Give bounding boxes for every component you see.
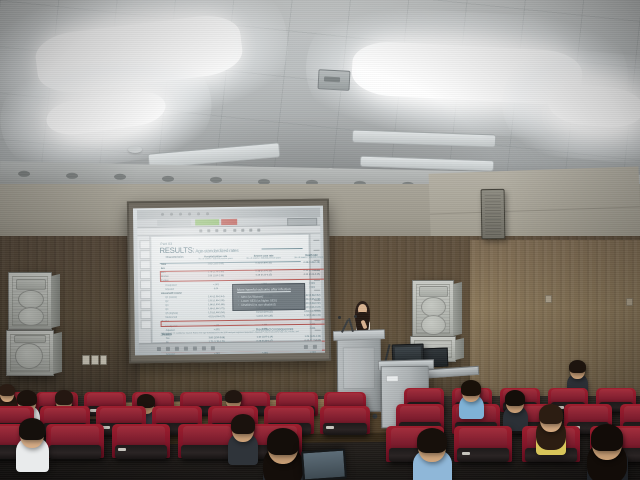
table-col-header: Death rateNo. of events / 100,000 person… — [290, 254, 325, 260]
audience-hair-top — [267, 428, 299, 455]
table-row-label: Unadjusted — [165, 284, 177, 286]
table-row-label: Q2 — [165, 301, 168, 303]
seat-number-tag — [462, 452, 470, 455]
pa-speaker-cabinet — [8, 272, 52, 330]
slide-thumbnail-pane[interactable] — [137, 236, 151, 343]
table-cell: 1.22 (1.16-1.28) — [242, 315, 286, 318]
table-cell: 4.15 (4.03-4.27) — [194, 316, 238, 319]
audience-hair-top — [0, 384, 15, 396]
ceiling-speaker-dome — [128, 146, 142, 153]
table-col-header: Characteristics — [160, 256, 190, 259]
table-cell: <.001 — [195, 328, 239, 331]
table-cell: 0.21 (0.20-0.22) — [242, 311, 286, 314]
table-row-label: Sex — [161, 268, 165, 270]
wall-outlet — [545, 295, 552, 303]
projection-screen: Part 03 RESULTS: Age-standardized rates … — [127, 199, 331, 364]
audience-hair-top — [539, 404, 563, 424]
table-cell: <.001 — [291, 352, 325, 355]
auditorium-seat-cushion[interactable] — [49, 445, 101, 459]
audience-hair-top — [55, 390, 73, 405]
wall-outlet — [626, 298, 633, 306]
auditorium-seat-cushion[interactable] — [457, 448, 509, 462]
wall-outlet — [100, 355, 107, 365]
audience-hair-top — [231, 414, 255, 434]
audience-hair-top — [461, 380, 481, 396]
lectern-label-plate — [386, 375, 399, 382]
callout-bullet-list: Men (vs Women) Lower SES (vs higher SES)… — [237, 294, 300, 307]
seat-number-tag — [326, 426, 334, 429]
ribbon-tab[interactable] — [157, 220, 191, 226]
audience-hair-top — [505, 390, 525, 406]
slide-canvas: Part 03 RESULTS: Age-standardized rates … — [151, 235, 309, 342]
table-row-label: Household income — [161, 292, 182, 294]
table-cell: 0.31 (0.30-0.31) — [242, 262, 286, 265]
ribbon-tab-red[interactable] — [221, 219, 237, 225]
wall-outlet — [82, 355, 90, 365]
table-row-label: Q1 (lowest) — [165, 297, 177, 299]
slide-annotation: → Reversed consequences — [252, 327, 304, 332]
audience-hair-top — [569, 360, 586, 373]
ribbon-tab-active-green[interactable] — [195, 219, 219, 225]
audience-hair-top — [19, 418, 45, 440]
slide-callout-box: More harmful outcome after infection Men… — [232, 283, 305, 311]
audience-hair-top — [417, 428, 447, 453]
table-cell: <.001 — [243, 352, 287, 355]
callout-bullet: Disabled (vs non-disabled) — [241, 302, 300, 307]
table-row-label: Q3 — [165, 305, 168, 307]
audience-hair-top — [591, 424, 623, 451]
titlebar-icons — [161, 212, 209, 216]
foreground-tablet-screen[interactable] — [301, 449, 347, 480]
audience-hair-top — [225, 390, 242, 403]
slide-title: RESULTS: Age-standardized rates — [159, 244, 238, 254]
auditorium-seat-cushion[interactable] — [323, 423, 367, 435]
lecture-hall-photo: Part 03 RESULTS: Age-standardized rates … — [0, 0, 640, 480]
table-cell: 1.82 (1.81-1.83) — [194, 263, 238, 266]
ceiling-vent — [317, 69, 350, 91]
table-row-label: Adjusted — [166, 329, 175, 331]
table-col-header: Severe case rateNo. of events / 100,000 … — [242, 255, 286, 261]
projection-screen-surface: Part 03 RESULTS: Age-standardized rates … — [133, 206, 325, 356]
pa-speaker-cabinet — [412, 280, 454, 338]
table-row-label: Q5 (highest) — [165, 313, 178, 315]
wall-mounted-speaker-icon — [481, 189, 506, 239]
wall-outlet — [91, 355, 99, 365]
wood-paneled-wall-right — [470, 240, 640, 410]
auditorium-seat-cushion[interactable] — [181, 445, 233, 459]
microphone-head-icon — [354, 315, 357, 318]
slide-title-main: RESULTS: — [159, 245, 194, 254]
table-row-label: Adjusted — [166, 354, 175, 355]
table-col-header: Hospitalization rateNo. of events / 100,… — [194, 255, 238, 261]
seat-number-tag — [118, 448, 126, 451]
table-row-label: Q4 — [165, 309, 168, 311]
microphone-head-icon — [338, 316, 341, 319]
pa-speaker-cabinet — [6, 330, 54, 376]
table-row-label: Yes — [166, 338, 170, 340]
table-cell: 1.51 (1.48-1.54) — [194, 312, 238, 315]
table-row-label: Total — [161, 264, 166, 266]
callout-title: More harmful outcome after infection — [237, 287, 300, 292]
table-cell: <.001 — [195, 353, 239, 355]
table-row-label: Adjusted — [165, 288, 174, 290]
table-row-label: Medical aid — [165, 317, 177, 319]
audience-hair-top — [17, 390, 37, 406]
slide-title-sub: Age-standardized rates — [195, 247, 239, 253]
